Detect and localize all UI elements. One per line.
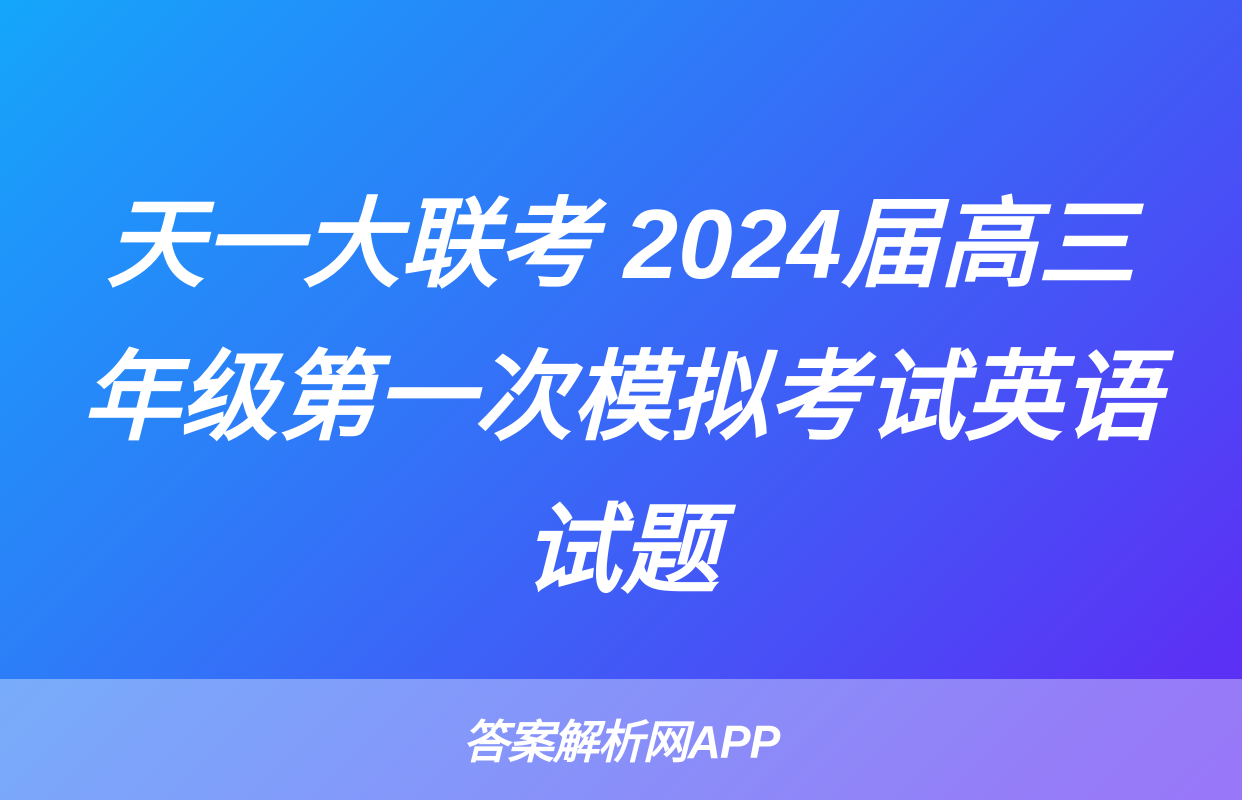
page-title: 天一大联考 2024届高三 年级第一次模拟考试英语 试题 [0,168,1242,627]
title-line-2: 年级第一次模拟考试英语 [34,321,1208,474]
exam-title-card: 天一大联考 2024届高三 年级第一次模拟考试英语 试题 答案解析网APP [0,0,1242,800]
title-line-3: 试题 [34,474,1208,627]
watermark-brand-label: 答案解析网APP [463,719,780,765]
watermark-band: 答案解析网APP [0,679,1242,800]
title-line-1: 天一大联考 2024届高三 [34,168,1208,321]
